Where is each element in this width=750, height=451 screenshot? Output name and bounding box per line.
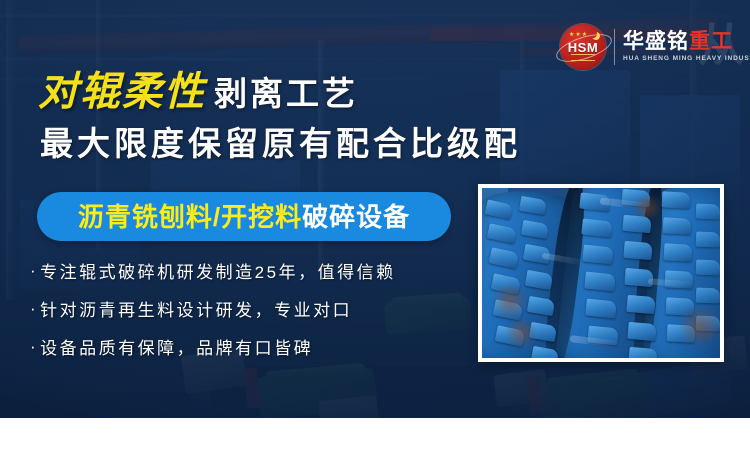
- moon-icon: [589, 30, 597, 38]
- crusher-tooth: [663, 217, 692, 234]
- promo-banner: 河南矿山 50/10t 从 ★★★: [0, 0, 750, 418]
- bullet-dot-icon: ·: [30, 300, 38, 317]
- hsm-initials: HSM: [568, 40, 598, 55]
- product-category-pill[interactable]: 沥青铣刨料/开挖料破碎设备: [37, 192, 451, 241]
- crusher-tooth: [626, 295, 655, 314]
- crusher-tooth: [696, 204, 720, 220]
- bottom-white-strip: [0, 418, 750, 451]
- company-name-cn-part2: 重工: [689, 30, 733, 53]
- company-name-cn: 华盛铭重工: [623, 31, 750, 52]
- crusher-tooth: [662, 191, 691, 208]
- rust-patch: [678, 304, 720, 348]
- rust-patch: [490, 284, 530, 318]
- product-photo[interactable]: [478, 184, 724, 362]
- product-photo-image: [482, 188, 720, 358]
- list-item: · 专注辊式破碎机研发制造25年，值得信赖: [30, 258, 396, 283]
- hsm-badge-icon: ★★★ HSM: [560, 24, 606, 70]
- crusher-tooth: [696, 288, 720, 304]
- stars-icon: ★★★: [569, 31, 588, 38]
- bullet-dot-icon: ·: [30, 262, 38, 279]
- logo-text-block: 华盛铭重工 HUA SHENG MING HEAVY INDUSTRY: [623, 31, 750, 63]
- crusher-tooth: [664, 243, 693, 261]
- company-name-cn-part1: 华盛铭: [623, 30, 689, 53]
- logo-divider: [614, 29, 615, 65]
- company-logo[interactable]: ★★★ HSM 华盛铭重工 HUA SHENG MING HEAVY INDUS…: [560, 24, 750, 70]
- bullet-dot-icon: ·: [30, 338, 38, 355]
- crusher-tooth: [584, 271, 616, 291]
- company-name-en: HUA SHENG MING HEAVY INDUSTRY: [623, 56, 750, 63]
- crusher-tooth: [627, 322, 656, 341]
- crusher-tooth: [582, 244, 614, 264]
- crusher-tooth: [585, 298, 617, 318]
- headline-line1: 对辊柔性 剥离工艺: [38, 72, 358, 112]
- headline-rest: 剥离工艺: [214, 77, 358, 110]
- headline-line2: 最大限度保留原有配合比级配: [40, 126, 521, 162]
- rust-patch: [504, 318, 538, 348]
- list-item-label: 针对沥青再生料设计研发，专业对口: [40, 296, 352, 321]
- list-item-label: 专注辊式破碎机研发制造25年，值得信赖: [40, 258, 395, 283]
- list-item: · 设备品质有保障，品牌有口皆碑: [30, 334, 396, 359]
- selling-points-list: · 专注辊式破碎机研发制造25年，值得信赖 · 针对沥青再生料设计研发，专业对口…: [30, 258, 396, 372]
- headline-highlight: 对辊柔性: [38, 72, 206, 112]
- pill-text-rest: 破碎设备: [302, 202, 410, 232]
- wave-lines-icon: [571, 54, 595, 61]
- crusher-tooth: [696, 260, 720, 276]
- crusher-tooth: [696, 232, 720, 248]
- list-item-label: 设备品质有保障，品牌有口皆碑: [40, 334, 313, 359]
- list-item: · 针对沥青再生料设计研发，专业对口: [30, 296, 396, 321]
- pill-text-highlight: 沥青铣刨料/开挖料: [78, 202, 302, 232]
- pill-text: 沥青铣刨料/开挖料破碎设备: [78, 204, 410, 230]
- crusher-tooth: [623, 241, 652, 260]
- crusher-tooth: [581, 218, 613, 237]
